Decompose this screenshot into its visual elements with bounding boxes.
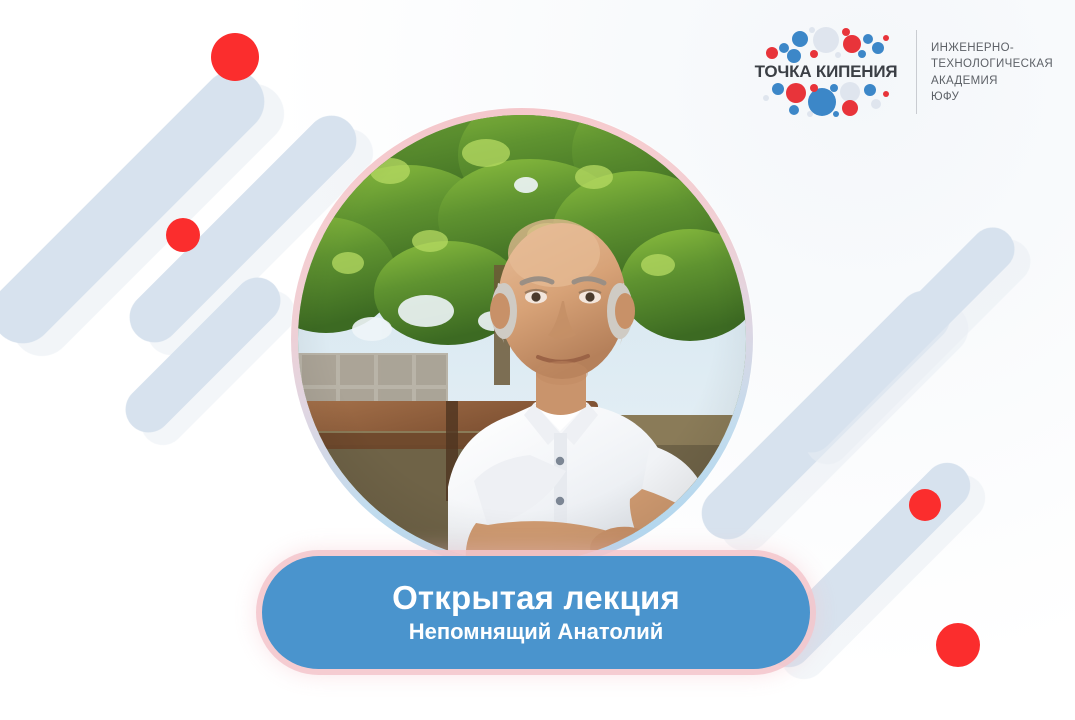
organization-logo: ТОЧКА КИПЕНИЯ: [750, 26, 1053, 118]
lecture-banner: Открытая лекция Непомнящий Анатолий: [262, 556, 810, 669]
red-dot-4-icon: [936, 623, 980, 667]
logo-divider: [916, 30, 917, 114]
portrait-ring: [291, 108, 753, 570]
red-dot-3-icon: [909, 489, 941, 521]
tochka-kipeniya-logo-icon: ТОЧКА КИПЕНИЯ: [750, 26, 902, 118]
red-dot-1-icon: [211, 33, 259, 81]
decor-bar-right-2: [780, 218, 1023, 461]
poster-canvas: Открытая лекция Непомнящий Анатолий: [0, 0, 1075, 720]
organization-name: ИНЖЕНЕРНО- ТЕХНОЛОГИЧЕСКАЯ АКАДЕМИЯ ЮФУ: [931, 26, 1053, 105]
banner-title: Открытая лекция: [392, 581, 680, 616]
red-dot-2-icon: [166, 218, 200, 252]
portrait-photo: [298, 115, 746, 563]
banner-subtitle: Непомнящий Анатолий: [409, 620, 664, 644]
svg-text:ТОЧКА КИПЕНИЯ: ТОЧКА КИПЕНИЯ: [755, 62, 898, 81]
